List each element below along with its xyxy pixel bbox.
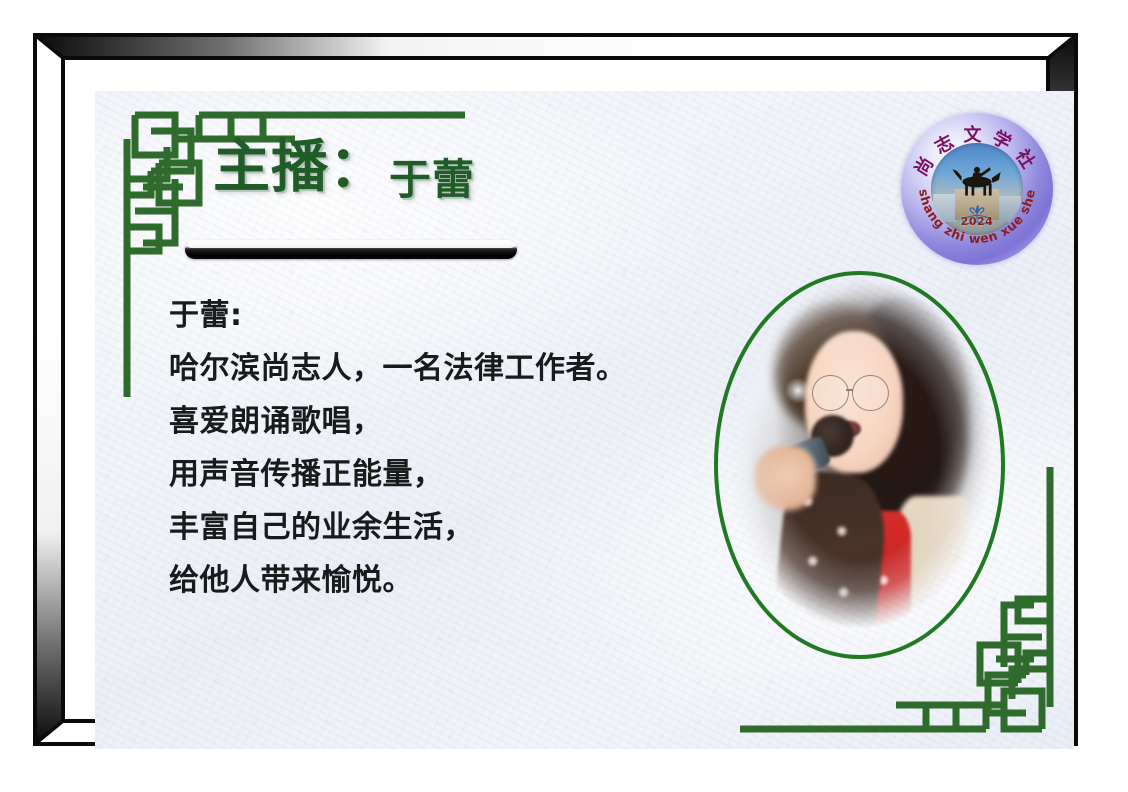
- portrait-highlight: [785, 377, 811, 404]
- bio-line-4: 丰富自己的业余生活，: [169, 501, 749, 554]
- title-divider-bar: [185, 240, 517, 259]
- title-role-label: 主播：: [213, 139, 387, 196]
- logo-chinese-name: 尚志文学社: [910, 124, 1044, 180]
- bio-line-1: 哈尔滨尚志人，一名法律工作者。: [169, 342, 749, 395]
- portrait-photo: [716, 273, 1003, 657]
- picture-frame: 主播： 于蕾 于蕾: 哈尔滨尚志人，一名法律工作者。 喜爱朗诵歌唱， 用声音传播…: [33, 33, 1078, 746]
- logo-text-ring: 尚志文学社 shang zhi wen xue she: [901, 113, 1053, 265]
- logo-pinyin: shang zhi wen xue she: [916, 188, 1038, 246]
- card-panel: 主播： 于蕾 于蕾: 哈尔滨尚志人，一名法律工作者。 喜爱朗诵歌唱， 用声音传播…: [95, 91, 1074, 749]
- title-host-name: 于蕾: [389, 159, 475, 201]
- poster-canvas: 主播： 于蕾 于蕾: 哈尔滨尚志人，一名法律工作者。 喜爱朗诵歌唱， 用声音传播…: [0, 0, 1128, 792]
- bio-heading: 于蕾:: [169, 289, 749, 342]
- portrait-glasses-bridge: [846, 389, 853, 391]
- page-title: 主播： 于蕾: [213, 139, 475, 196]
- bio-line-3: 用声音传播正能量，: [169, 448, 749, 501]
- portrait-glasses-right: [852, 375, 888, 412]
- bio-text-block: 于蕾: 哈尔滨尚志人，一名法律工作者。 喜爱朗诵歌唱， 用声音传播正能量， 丰富…: [169, 289, 749, 607]
- portrait-glasses-left: [812, 375, 848, 412]
- bio-line-2: 喜爱朗诵歌唱，: [169, 395, 749, 448]
- society-logo: 2024 尚志文学社 shang zhi wen xue she: [901, 113, 1053, 265]
- host-portrait: [714, 271, 1005, 659]
- bio-line-5: 给他人带来愉悦。: [169, 554, 749, 607]
- portrait-hand: [753, 446, 816, 511]
